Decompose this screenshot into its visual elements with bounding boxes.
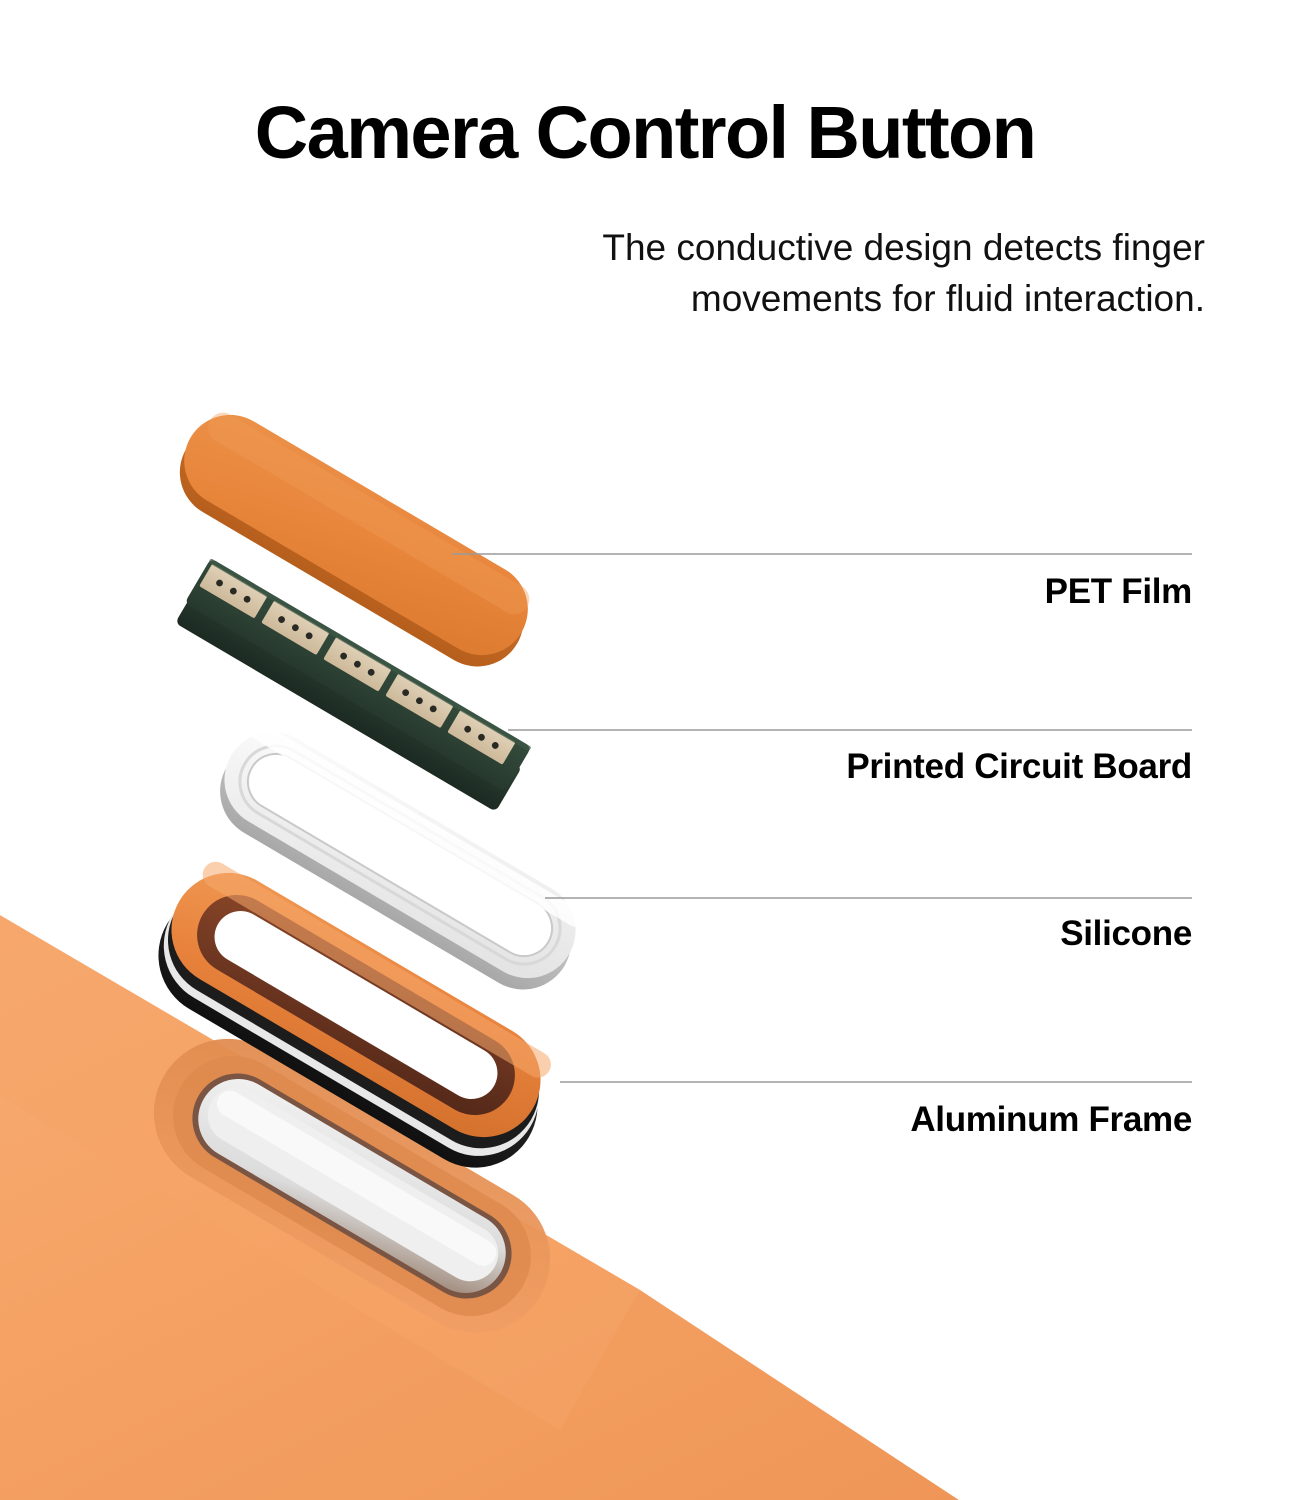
callout-label-aluminum-frame: Aluminum Frame: [910, 1100, 1192, 1140]
product-feature-graphic: Camera Control Button The conductive des…: [0, 0, 1290, 1500]
callout-label-printed-circuit-board: Printed Circuit Board: [846, 747, 1192, 787]
leader-lines: [452, 554, 1192, 1082]
callout-label-silicone: Silicone: [1060, 914, 1192, 954]
exploded-view-diagram: PET Film Printed Circuit Board Silicone …: [0, 0, 1290, 1500]
callout-label-pet-film: PET Film: [1045, 572, 1192, 612]
